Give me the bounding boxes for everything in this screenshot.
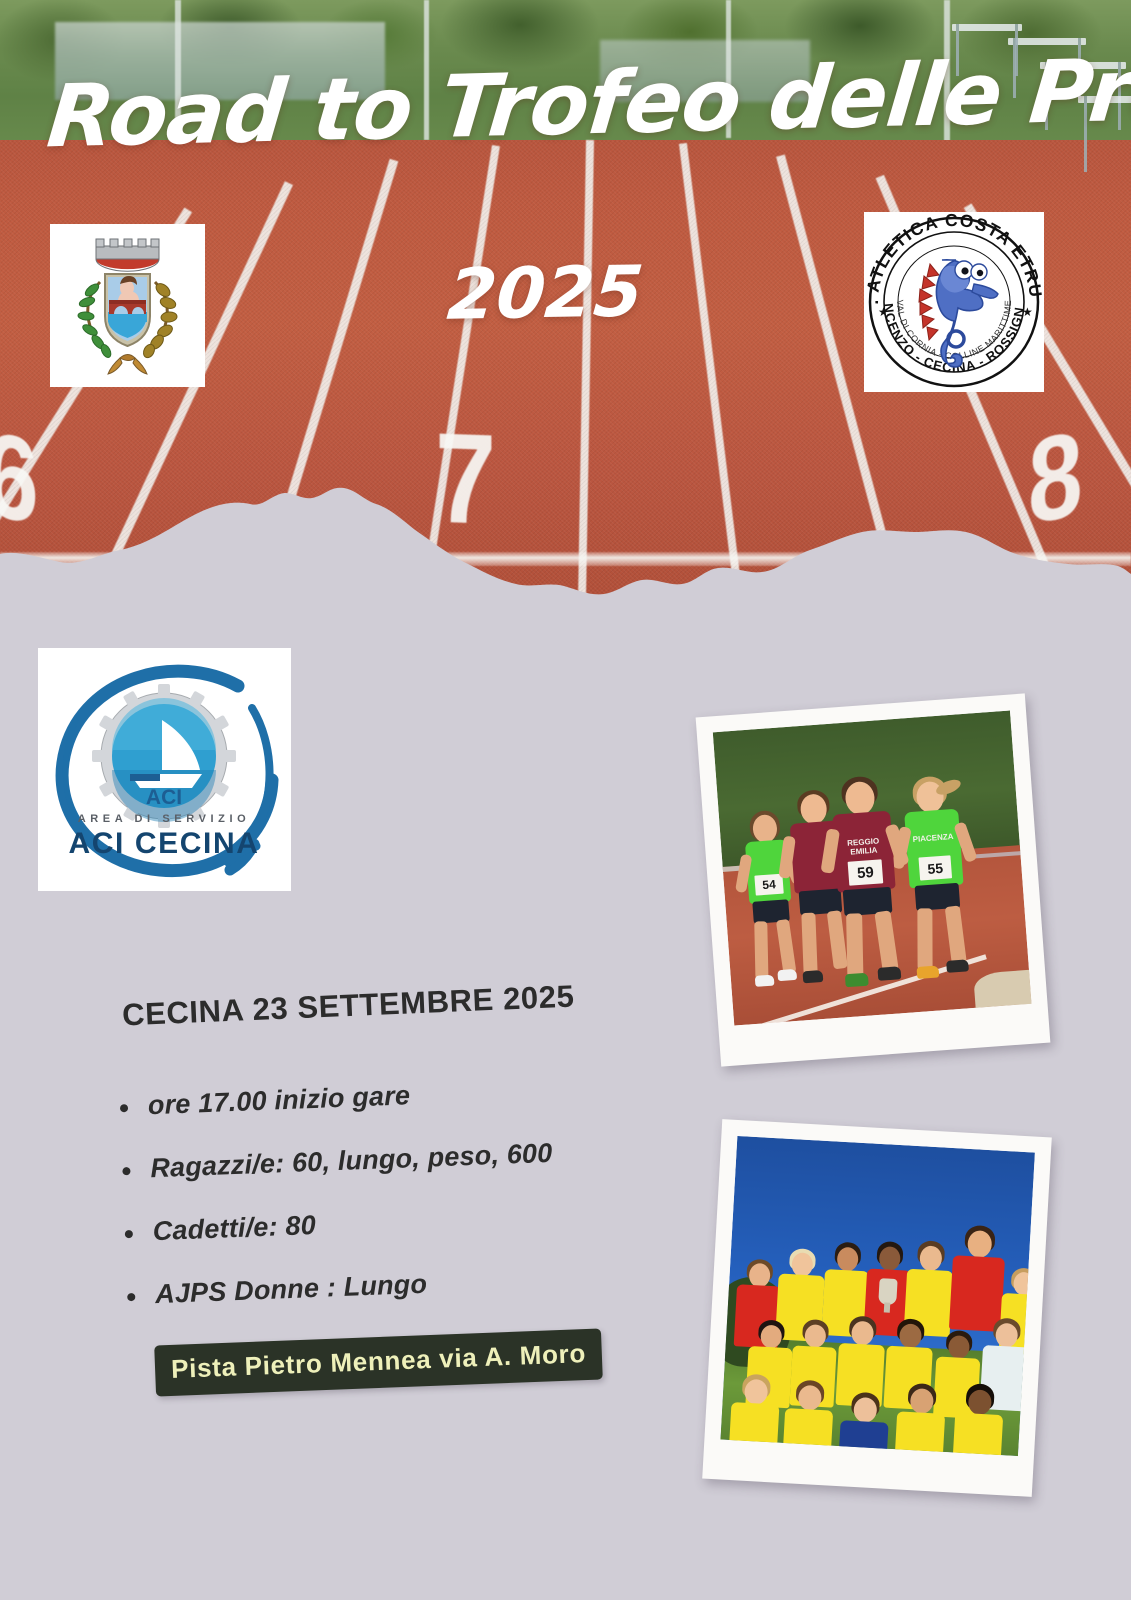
photo-team [702,1119,1052,1497]
aci-cecina-icon: ACI AREA DI SERVIZIO ACI CECINA [38,648,291,891]
poster-root: 6 7 8 Road to Trofeo delle Province 2025 [0,0,1131,1600]
year-label: 2025 [445,256,646,330]
team-member [836,1391,891,1456]
runner-bib: 55 [919,856,953,881]
event-date-heading: CECINA 23 SETTEMBRE 2025 [121,979,575,1034]
event-details-list: ore 17.00 inizio gare Ragazzi/e: 60, lun… [113,1069,722,1344]
runner: REGGIO EMILIA 59 [821,774,913,994]
list-item: Cadetti/e: 80 [118,1194,719,1248]
comune-crest-icon [50,224,205,387]
photo-runners-image: 54 R [713,711,1032,1026]
runner-bib: 54 [754,874,783,896]
aci-cecina-logo: ACI AREA DI SERVIZIO ACI CECINA [38,648,291,891]
runner-bib: 59 [848,860,884,886]
team-member [893,1382,948,1456]
comune-di-cecina-logo [50,224,205,387]
page-title: Road to Trofeo delle Province [44,50,1062,161]
team-member [781,1379,836,1456]
trophy-icon [878,1278,897,1305]
trophy-stem [884,1302,891,1312]
team-member [727,1373,782,1456]
aci-title: ACI CECINA [68,827,259,860]
list-item: Ragazzi/e: 60, lungo, peso, 600 [116,1132,717,1186]
aci-mark-text: ACI [146,786,182,809]
seahorse-club-icon: ★ ★ C.G. ATLETICA COSTA ETRUSCA S.VINCEN… [864,212,1044,392]
list-item: AJPS Donne : Lungo [121,1257,722,1311]
photo-team-image [720,1136,1035,1456]
torn-paper-edge [0,470,1131,600]
atletica-costa-etrusca-logo: ★ ★ C.G. ATLETICA COSTA ETRUSCA S.VINCEN… [864,212,1044,392]
photo-runners: 54 R [696,693,1051,1066]
team-member [951,1383,1006,1456]
list-item: ore 17.00 inizio gare [113,1069,714,1123]
aci-tagline: AREA DI SERVIZIO [78,813,251,825]
